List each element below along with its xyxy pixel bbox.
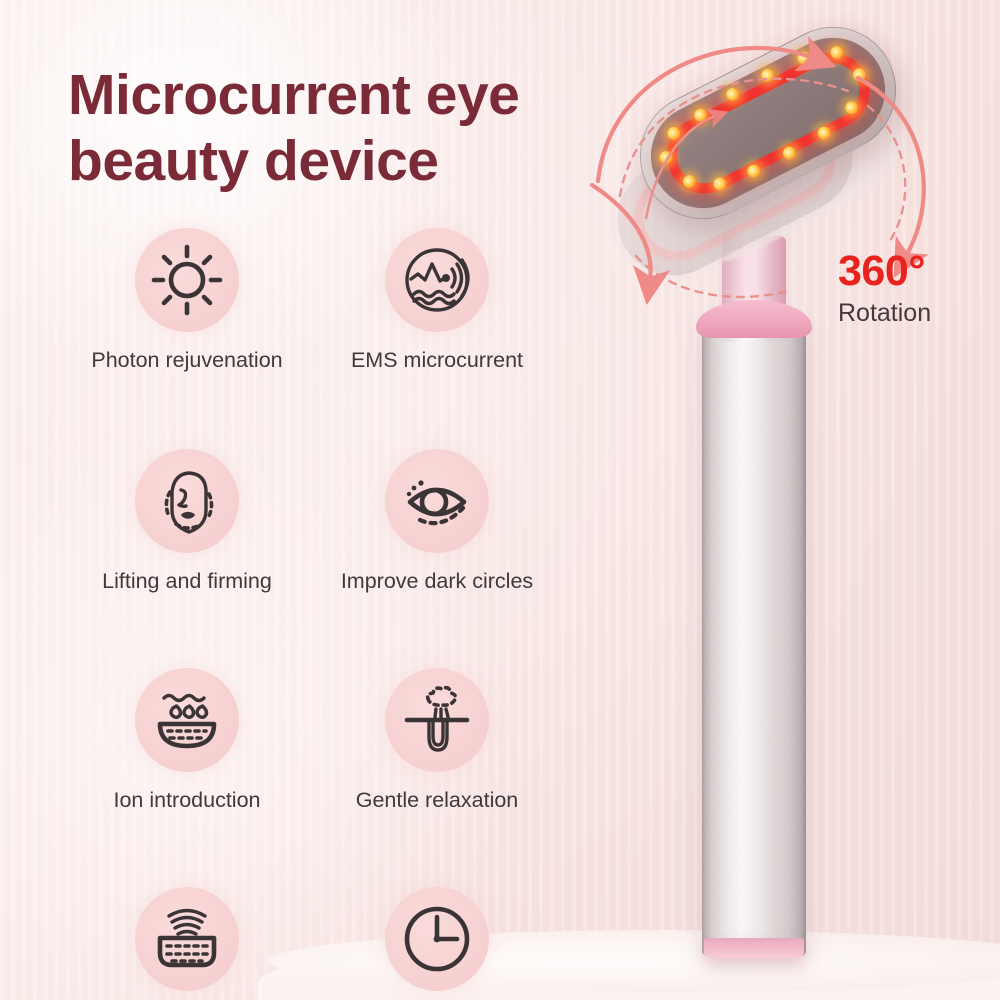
feature-row-spacer: [62, 373, 562, 449]
feature-item-lifting-and-firming[interactable]: Lifting and firming: [62, 449, 312, 594]
feature-icon-badge: [135, 668, 239, 772]
feature-label: Ion introduction: [113, 788, 260, 813]
rotation-dashed-arc-bottom: [636, 256, 788, 297]
skin-waves-icon: [148, 900, 226, 978]
rotation-arrows: [558, 6, 998, 366]
eye-icon: [398, 462, 476, 540]
feature-icon-badge: [385, 887, 489, 991]
device-head-area: 360° Rotation: [560, 0, 1000, 440]
feature-row: Ion introduction Gentle relaxation: [62, 668, 562, 813]
feature-row: Photon rejuvenation EMS microcurr: [62, 228, 562, 373]
face-lift-icon: [148, 462, 226, 540]
pore-steam-icon: [398, 681, 476, 759]
page-title-line-1: Microcurrent eye: [68, 63, 519, 127]
feature-item-automatic-timing[interactable]: Automatic timing: [312, 887, 562, 1000]
feature-row: Lifting and firming Improve dark circles: [62, 449, 562, 594]
sun-icon: [148, 241, 226, 319]
product-banner: Microcurrent eye beauty device: [0, 0, 1000, 1000]
feature-item-improve-dark-circles[interactable]: Improve dark circles: [312, 449, 562, 594]
feature-icon-badge: [135, 228, 239, 332]
feature-label: EMS microcurrent: [351, 348, 523, 373]
feature-icon-badge: [385, 668, 489, 772]
feature-icon-badge: [385, 228, 489, 332]
clock-icon: [398, 900, 476, 978]
rotation-arrow-inner: [646, 116, 716, 218]
rotation-dashed-arc-top: [620, 79, 848, 196]
feature-label: Gentle relaxation: [356, 788, 519, 813]
feature-item-promote-metabolism[interactable]: Promote metabolism: [62, 887, 312, 1000]
feature-row: Promote metabolism Automatic timing: [62, 887, 562, 1000]
feature-item-ion-introduction[interactable]: Ion introduction: [62, 668, 312, 813]
rotation-value: 360°: [838, 250, 931, 293]
feature-label: Photon rejuvenation: [91, 348, 282, 373]
feature-label: Lifting and firming: [102, 569, 272, 594]
device-handle-base: [704, 938, 804, 958]
feature-icon-badge: [135, 449, 239, 553]
product-device: 360° Rotation: [560, 0, 1000, 1000]
rotation-label: Rotation: [838, 299, 931, 328]
feature-icon-badge: [135, 887, 239, 991]
feature-item-ems-microcurrent[interactable]: EMS microcurrent: [312, 228, 562, 373]
feature-item-photon-rejuvenation[interactable]: Photon rejuvenation: [62, 228, 312, 373]
ion-droplet-icon: [148, 681, 226, 759]
feature-label: Improve dark circles: [341, 569, 533, 594]
rotation-callout: 360° Rotation: [838, 250, 931, 328]
feature-row-spacer: [62, 813, 562, 887]
rotation-arrow-bottom-left: [592, 185, 651, 280]
feature-row-spacer: [62, 594, 562, 668]
ems-wave-icon: [398, 241, 476, 319]
feature-icon-badge: [385, 449, 489, 553]
feature-grid: Photon rejuvenation EMS microcurr: [62, 228, 562, 1000]
rotation-dashed-arc-right: [868, 106, 905, 244]
rotation-arrow-top: [598, 48, 813, 181]
rotation-arrow-right: [858, 78, 924, 256]
feature-item-gentle-relaxation[interactable]: Gentle relaxation: [312, 668, 562, 813]
